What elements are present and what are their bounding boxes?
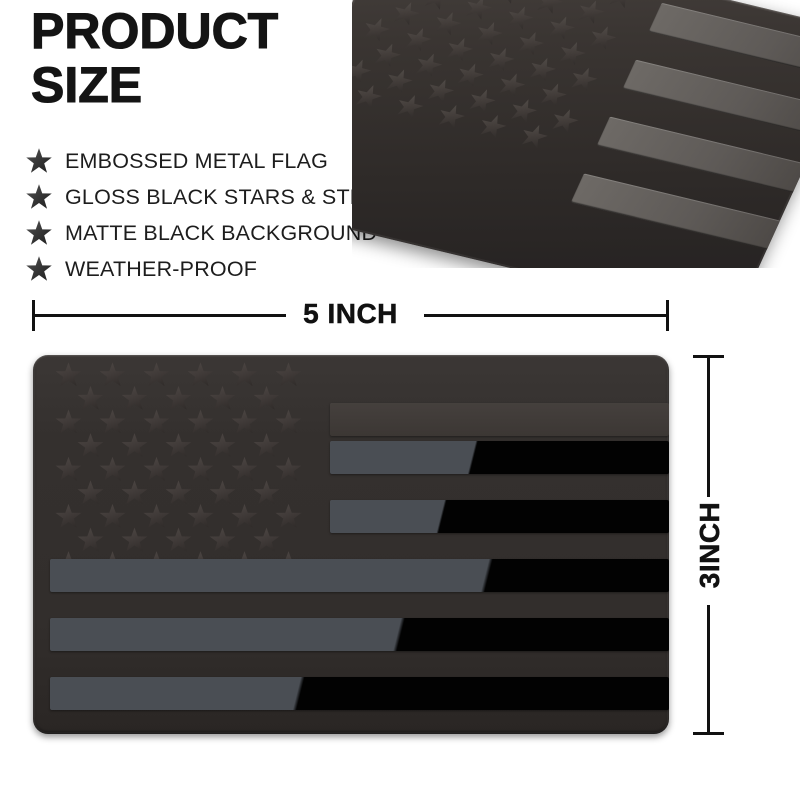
star-icon — [143, 503, 170, 529]
width-dimension: 5 INCH — [32, 300, 669, 332]
stripe-gloss-sheen — [330, 441, 669, 474]
width-dimension-cap-right — [666, 300, 669, 331]
star-icon — [77, 527, 104, 553]
star-icon — [209, 433, 236, 459]
star-icon — [121, 385, 148, 411]
star-icon — [55, 456, 82, 482]
star-icon — [121, 527, 148, 553]
star-icon — [209, 527, 236, 553]
star-icon — [275, 409, 302, 435]
product-photo-perspective — [352, 0, 800, 268]
star-icon — [253, 433, 280, 459]
star-icon — [187, 503, 214, 529]
star-icon — [26, 148, 52, 174]
star-icon — [209, 385, 236, 411]
star-icon — [99, 409, 126, 435]
star-icon — [143, 456, 170, 482]
star-row — [55, 363, 330, 387]
star-icon — [187, 409, 214, 435]
stripe-gloss-sheen — [330, 500, 669, 533]
flag-stripe — [330, 441, 669, 474]
star-icon — [77, 480, 104, 506]
star-icon — [165, 433, 192, 459]
star-icon — [77, 433, 104, 459]
feature-label: WEATHER-PROOF — [65, 257, 257, 282]
star-icon — [55, 362, 82, 388]
star-icon — [143, 362, 170, 388]
flag-stripe — [330, 500, 669, 533]
page-title: PRODUCT SIZE — [31, 4, 278, 112]
star-row — [55, 434, 330, 458]
star-canton — [55, 363, 330, 575]
height-dimension-rule-bottom — [707, 605, 710, 733]
star-icon — [26, 256, 52, 282]
flag-stripe — [330, 403, 669, 436]
star-icon — [209, 480, 236, 506]
flag-emblem-tilted — [352, 0, 800, 268]
star-row — [55, 457, 330, 481]
height-dimension-rule-top — [707, 357, 710, 497]
star-icon — [26, 220, 52, 246]
star-row — [55, 505, 330, 529]
star-icon — [187, 456, 214, 482]
feature-label: EMBOSSED METAL FLAG — [65, 149, 328, 174]
star-icon — [99, 503, 126, 529]
star-icon — [253, 480, 280, 506]
height-dimension: 3INCH — [693, 355, 727, 735]
flag-emblem-front — [33, 355, 669, 734]
stripe-gloss-sheen — [50, 618, 669, 651]
star-icon — [187, 362, 214, 388]
star-row — [55, 410, 330, 434]
star-icon — [77, 385, 104, 411]
star-icon — [275, 456, 302, 482]
star-icon — [275, 362, 302, 388]
feature-label: MATTE BLACK BACKGROUND — [65, 221, 377, 246]
star-row — [55, 481, 330, 505]
star-icon — [121, 433, 148, 459]
flag-stripe — [50, 618, 669, 651]
star-icon — [231, 503, 258, 529]
stripe-gloss-sheen — [50, 559, 669, 592]
star-icon — [165, 385, 192, 411]
height-dimension-cap-bottom — [693, 732, 724, 735]
star-icon — [165, 480, 192, 506]
star-icon — [121, 480, 148, 506]
height-dimension-label: 3INCH — [694, 502, 726, 589]
width-dimension-rule-right — [424, 314, 667, 317]
star-icon — [231, 409, 258, 435]
star-icon — [275, 503, 302, 529]
star-icon — [99, 456, 126, 482]
star-icon — [253, 385, 280, 411]
star-icon — [231, 456, 258, 482]
star-icon — [165, 527, 192, 553]
stripe-gloss-sheen — [330, 403, 669, 436]
star-row — [55, 528, 330, 552]
stripe-gloss-sheen — [50, 677, 669, 710]
product-size-infographic: PRODUCT SIZE EMBOSSED METAL FLAGGLOSS BL… — [0, 0, 800, 800]
star-icon — [143, 409, 170, 435]
flag-stripe — [50, 559, 669, 592]
star-icon — [253, 527, 280, 553]
star-icon — [55, 409, 82, 435]
star-icon — [26, 184, 52, 210]
star-icon — [55, 503, 82, 529]
star-row — [55, 387, 330, 411]
star-icon — [231, 362, 258, 388]
flag-stripe — [50, 677, 669, 710]
star-icon — [99, 362, 126, 388]
